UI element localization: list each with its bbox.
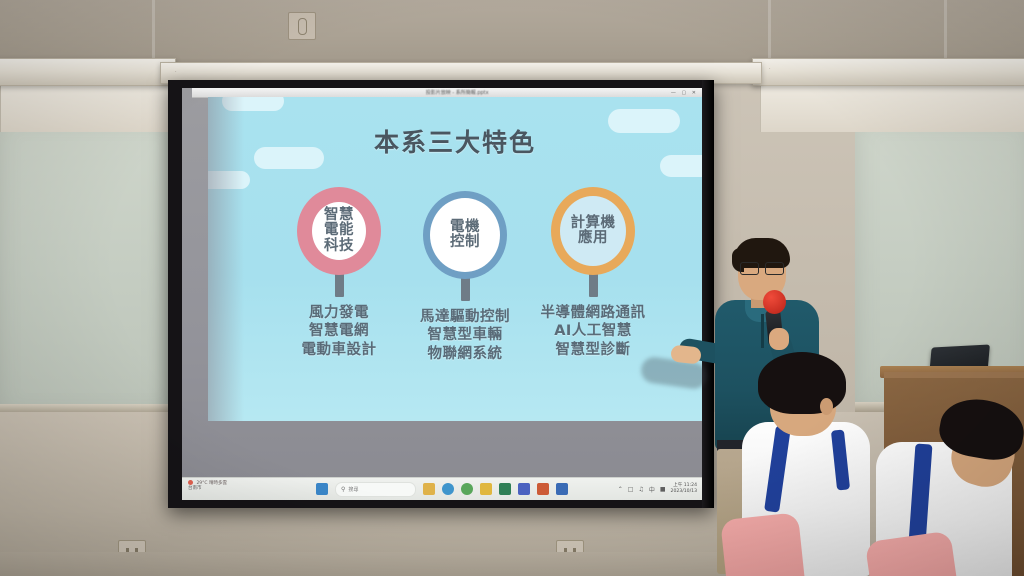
windows-taskbar[interactable]: 29°C 晴時多雲 台南市 ⚲ 搜尋	[182, 477, 702, 500]
taskbar-center-group: ⚲ 搜尋	[316, 482, 568, 497]
wall-seam	[152, 0, 155, 64]
powerpoint-icon[interactable]	[537, 483, 549, 495]
pin-label-line-2: 控制	[450, 235, 480, 250]
word-icon[interactable]	[556, 483, 568, 495]
whiteboard-left	[0, 110, 184, 424]
network-icon[interactable]: □	[628, 486, 634, 493]
wall-seam	[944, 0, 947, 64]
student-ear	[820, 398, 833, 415]
edge-browser-icon[interactable]	[442, 483, 454, 495]
pin-circle-computer-application: 計算機 應用	[551, 187, 635, 275]
pin-label-line-3: 科技	[324, 239, 354, 254]
search-placeholder: 搜尋	[348, 486, 358, 493]
search-icon: ⚲	[341, 486, 345, 493]
wall-seam	[768, 0, 771, 64]
screen-housing-left	[0, 58, 176, 86]
chrome-browser-icon[interactable]	[461, 483, 473, 495]
presenter-pointing-hand	[670, 344, 702, 364]
pin-inner-circle: 智慧 電能 科技	[312, 202, 366, 260]
presenter-placket	[761, 314, 764, 348]
projection-screen-surface[interactable]: 投影片放映 - 系所簡報.pptx — ▢ ✕ 本系三大特色	[182, 88, 702, 500]
weather-location: 台南市	[188, 486, 227, 491]
feature-pin-computer-application: 計算機 應用 半導體網路通訊 AI人工智慧 智慧型診斷	[518, 187, 668, 359]
glasses-icon	[739, 262, 785, 273]
powerpoint-slide: 本系三大特色 智慧 電能 科技 風力發電	[208, 97, 702, 421]
classroom-scene: · · 投影片放映 - 系所簡報.pptx — ▢ ✕ 本系三大特色	[0, 0, 1024, 576]
file-explorer-icon[interactable]	[423, 483, 435, 495]
chair-backrest	[720, 512, 810, 576]
student-front-left	[736, 356, 886, 576]
pin-label-line-2: 電能	[324, 223, 354, 238]
pin-label-line-2: 應用	[578, 231, 608, 246]
mail-icon[interactable]	[480, 483, 492, 495]
wall-outlet	[288, 12, 316, 40]
window-title-text: 投影片放映 - 系所簡報.pptx	[426, 89, 489, 96]
feature-detail-list-computer-application: 半導體網路通訊 AI人工智慧 智慧型診斷	[518, 304, 668, 359]
housing-brand-label: ·	[769, 66, 771, 72]
excel-icon[interactable]	[499, 483, 511, 495]
volume-icon[interactable]: ♫	[638, 486, 643, 493]
feature-detail-item: 半導體網路通訊	[518, 304, 668, 322]
pin-label-line-1: 計算機	[571, 216, 616, 231]
cloud-icon	[222, 97, 284, 111]
ime-icon[interactable]: 中	[649, 485, 655, 494]
screen-housing-right: ·	[752, 58, 1024, 86]
chevron-up-icon[interactable]: ⌃	[618, 486, 623, 493]
pin-inner-circle: 電機 控制	[430, 198, 500, 272]
slide-title: 本系三大特色	[208, 123, 702, 159]
pin-label-line-1: 電機	[450, 220, 480, 235]
feature-detail-item: 智慧型診斷	[518, 341, 668, 359]
roller-shade-left	[0, 80, 170, 132]
projection-screen-frame: 投影片放映 - 系所簡報.pptx — ▢ ✕ 本系三大特色	[168, 80, 714, 508]
window-controls[interactable]: — ▢ ✕	[671, 90, 698, 96]
teams-icon[interactable]	[518, 483, 530, 495]
feature-pins-group: 智慧 電能 科技 風力發電 智慧電網 電動車設計	[208, 177, 702, 417]
pin-stem	[589, 273, 598, 297]
roller-shade-right	[760, 80, 1024, 132]
presenter-mic-hand	[769, 328, 789, 350]
microphone-icon	[763, 290, 786, 314]
pin-stem	[335, 273, 344, 297]
pin-circle-smart-energy: 智慧 電能 科技	[297, 187, 381, 275]
pin-circle-electrical-control: 電機 控制	[423, 191, 507, 279]
pin-inner-circle: 計算機 應用	[560, 196, 626, 266]
weather-icon	[188, 480, 193, 485]
feature-detail-item: AI人工智慧	[518, 322, 668, 340]
taskbar-search-box[interactable]: ⚲ 搜尋	[335, 482, 416, 497]
pin-stem	[461, 277, 470, 301]
housing-brand-label: ·	[175, 69, 177, 75]
taskbar-weather-widget[interactable]: 29°C 晴時多雲 台南市	[188, 480, 227, 491]
windows-start-icon[interactable]	[316, 483, 328, 495]
student-front-right	[878, 396, 1024, 576]
